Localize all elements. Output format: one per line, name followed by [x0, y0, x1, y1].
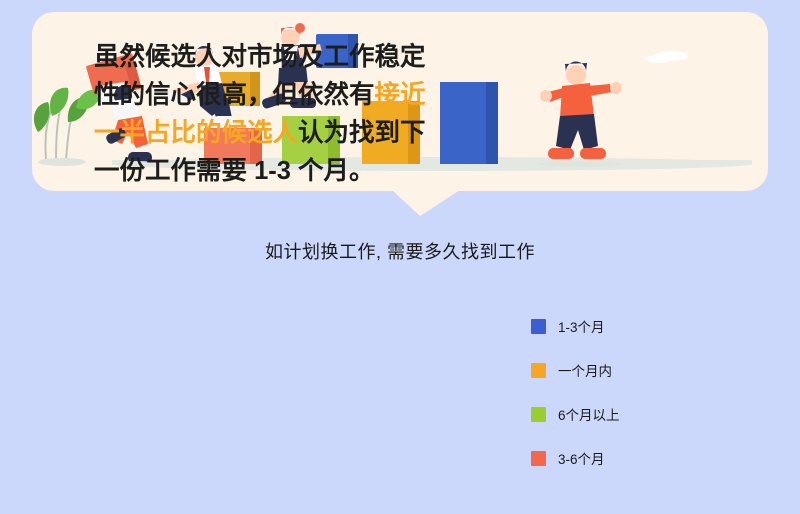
legend-item[interactable]: 一个月内: [531, 362, 620, 378]
callout-line-3-highlight: 一半占比的候选人: [94, 119, 298, 147]
callout-line-2: 性的信心很高，但依然有接近: [94, 76, 454, 114]
callout-tail: [392, 190, 460, 216]
legend-item-label: 一个月内: [558, 360, 612, 380]
legend-item[interactable]: 6个月以上: [531, 406, 620, 422]
legend-swatch-icon: [531, 451, 546, 466]
legend-swatch-icon: [531, 407, 546, 422]
legend-swatch-icon: [531, 363, 546, 378]
chart-title: 如计划换工作, 需要多久找到工作: [0, 238, 800, 264]
callout-line-4-text: 一份工作需要 1-3 个月。: [94, 157, 375, 185]
legend-item-label: 6个月以上: [558, 404, 620, 424]
infographic-canvas: 虽然候选人对市场及工作稳定 性的信心很高，但依然有接近 一半占比的候选人认为找到…: [0, 0, 800, 514]
callout-line-3-plain: 认为找到下: [298, 119, 426, 147]
legend-swatch-icon: [531, 319, 546, 334]
person-celebrating: [540, 61, 622, 167]
legend-item[interactable]: 3-6个月: [531, 450, 620, 466]
cloud-icon: [646, 51, 688, 63]
callout-line-2-highlight: 接近: [375, 81, 426, 109]
legend-item-label: 1-3个月: [558, 316, 605, 336]
plant-icon: [34, 88, 102, 166]
callout-text: 虽然候选人对市场及工作稳定 性的信心很高，但依然有接近 一半占比的候选人认为找到…: [94, 38, 454, 190]
callout-card: 虽然候选人对市场及工作稳定 性的信心很高，但依然有接近 一半占比的候选人认为找到…: [32, 12, 768, 191]
pie-chart: 0% 0% 0% 0%: [0, 270, 800, 514]
callout-line-2-plain: 性的信心很高，但依然有: [94, 81, 375, 109]
callout-line-3: 一半占比的候选人认为找到下: [94, 114, 454, 152]
legend-item[interactable]: 1-3个月: [531, 318, 620, 334]
legend-item-label: 3-6个月: [558, 448, 605, 468]
callout-line-1: 虽然候选人对市场及工作稳定: [94, 38, 454, 76]
chart-legend: 1-3个月 一个月内 6个月以上 3-6个月: [531, 318, 620, 494]
callout-line-4: 一份工作需要 1-3 个月。: [94, 152, 454, 190]
callout-line-1-text: 虽然候选人对市场及工作稳定: [94, 43, 426, 71]
